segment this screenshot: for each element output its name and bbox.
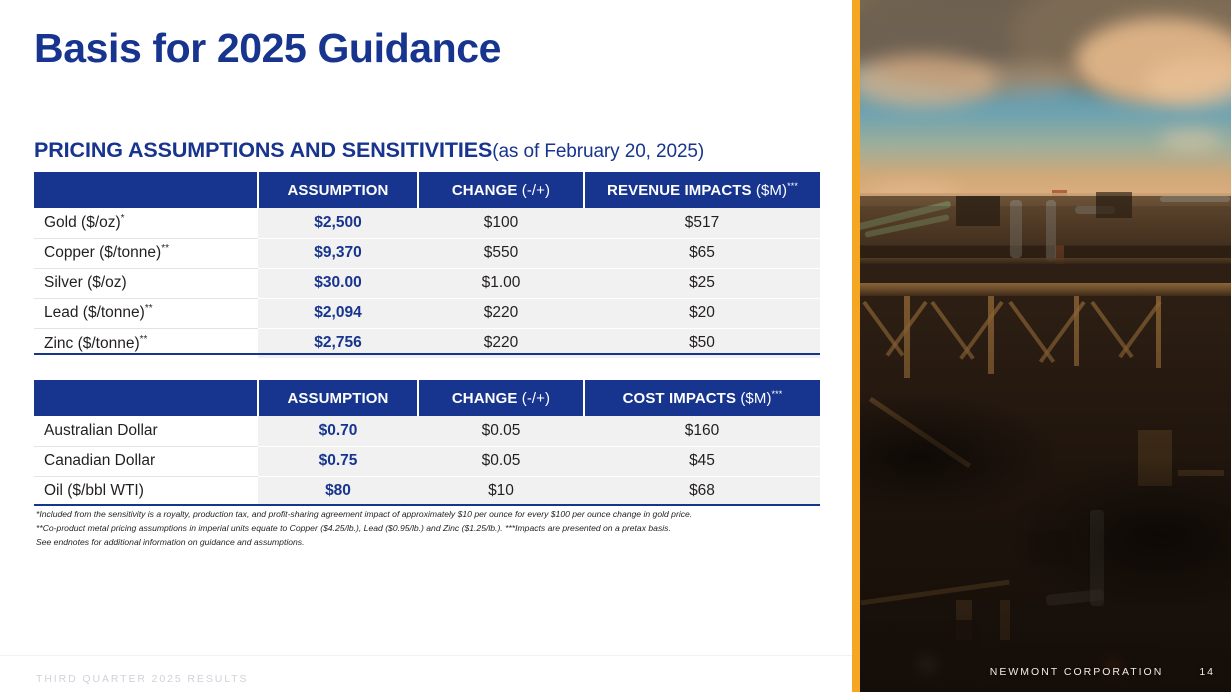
table-row: Copper ($/tonne)** $9,370 $550 $65 (34, 238, 820, 268)
photo-footer: NEWMONT CORPORATION 14 (990, 666, 1215, 678)
cell-change: $0.05 (418, 416, 584, 446)
cost-assumptions-table: ASSUMPTION CHANGE (-/+) COST IMPACTS ($M… (34, 380, 820, 506)
cell-impact: $160 (584, 416, 820, 446)
cell-impact: $45 (584, 446, 820, 476)
row-label: Gold ($/oz)* (34, 208, 258, 238)
row-label: Oil ($/bbl WTI) (34, 476, 258, 506)
cell-assumption: $0.70 (258, 416, 418, 446)
footnote-3: See endnotes for additional information … (36, 536, 796, 550)
page-title: Basis for 2025 Guidance (34, 25, 501, 72)
cost-table-underline (34, 504, 820, 506)
sunset-sky (860, 0, 1231, 220)
column-header-cost-impacts: COST IMPACTS ($M)*** (584, 380, 820, 416)
table-row: Canadian Dollar $0.75 $0.05 $45 (34, 446, 820, 476)
cost-table-body: Australian Dollar $0.70 $0.05 $160 Canad… (34, 416, 820, 506)
cell-assumption: $30.00 (258, 268, 418, 298)
cell-change: $100 (418, 208, 584, 238)
cell-impact: $20 (584, 298, 820, 328)
cloud-shape (1160, 130, 1222, 150)
cell-impact: $25 (584, 268, 820, 298)
gold-accent-stripe (852, 0, 860, 692)
cloud-shape (960, 62, 1080, 96)
horizontal-pipe (1160, 196, 1230, 202)
slide-content-panel: Basis for 2025 Guidance PRICING ASSUMPTI… (0, 0, 852, 692)
pricing-table-underline (34, 353, 820, 355)
cell-impact: $65 (584, 238, 820, 268)
table-row: Gold ($/oz)* $2,500 $100 $517 (34, 208, 820, 238)
row-label: Copper ($/tonne)** (34, 238, 258, 268)
cell-impact: $517 (584, 208, 820, 238)
cell-change: $0.05 (418, 446, 584, 476)
cell-assumption: $2,500 (258, 208, 418, 238)
row-label: Lead ($/tonne)** (34, 298, 258, 328)
table-row: Australian Dollar $0.70 $0.05 $160 (34, 416, 820, 446)
section-heading-sub: (as of February 20, 2025) (492, 141, 704, 162)
row-label: Australian Dollar (34, 416, 258, 446)
column-header-label (34, 380, 258, 416)
cell-change: $10 (418, 476, 584, 506)
column-header-change: CHANGE (-/+) (418, 380, 584, 416)
footnote-2: **Co-product metal pricing assumptions i… (36, 522, 796, 536)
column-header-assumption: ASSUMPTION (258, 380, 418, 416)
table-row: Silver ($/oz) $30.00 $1.00 $25 (34, 268, 820, 298)
section-heading-main: PRICING ASSUMPTIONS AND SENSITIVITIES (34, 138, 492, 162)
cell-assumption: $0.75 (258, 446, 418, 476)
table-header-row: ASSUMPTION CHANGE (-/+) COST IMPACTS ($M… (34, 380, 820, 416)
pricing-table-body: Gold ($/oz)* $2,500 $100 $517 Copper ($/… (34, 208, 820, 358)
page-number: 14 (1199, 666, 1215, 678)
footnote-1: *Included from the sensitivity is a roya… (36, 508, 796, 522)
pricing-assumptions-table: ASSUMPTION CHANGE (-/+) REVENUE IMPACTS … (34, 172, 820, 358)
section-heading: PRICING ASSUMPTIONS AND SENSITIVITIES(as… (34, 138, 704, 163)
footnotes-block: *Included from the sensitivity is a roya… (36, 508, 796, 550)
column-header-change: CHANGE (-/+) (418, 172, 584, 208)
column-header-assumption: ASSUMPTION (258, 172, 418, 208)
table-header-row: ASSUMPTION CHANGE (-/+) REVENUE IMPACTS … (34, 172, 820, 208)
mine-site-photo: NEWMONT CORPORATION 14 (860, 0, 1231, 692)
table-row: Lead ($/tonne)** $2,094 $220 $20 (34, 298, 820, 328)
photo-shading-overlay (860, 206, 1231, 692)
table-row: Oil ($/bbl WTI) $80 $10 $68 (34, 476, 820, 506)
footer-divider (0, 655, 852, 656)
cell-assumption: $9,370 (258, 238, 418, 268)
cell-change: $220 (418, 298, 584, 328)
row-label: Silver ($/oz) (34, 268, 258, 298)
footer-deck-title: THIRD QUARTER 2025 RESULTS (36, 673, 248, 685)
company-name: NEWMONT CORPORATION (990, 666, 1164, 678)
row-label: Canadian Dollar (34, 446, 258, 476)
cell-change: $550 (418, 238, 584, 268)
presentation-slide: Basis for 2025 Guidance PRICING ASSUMPTI… (0, 0, 1231, 692)
cell-assumption: $2,094 (258, 298, 418, 328)
cell-change: $1.00 (418, 268, 584, 298)
column-header-label (34, 172, 258, 208)
column-header-revenue-impacts: REVENUE IMPACTS ($M)*** (584, 172, 820, 208)
cell-assumption: $80 (258, 476, 418, 506)
cell-impact: $68 (584, 476, 820, 506)
